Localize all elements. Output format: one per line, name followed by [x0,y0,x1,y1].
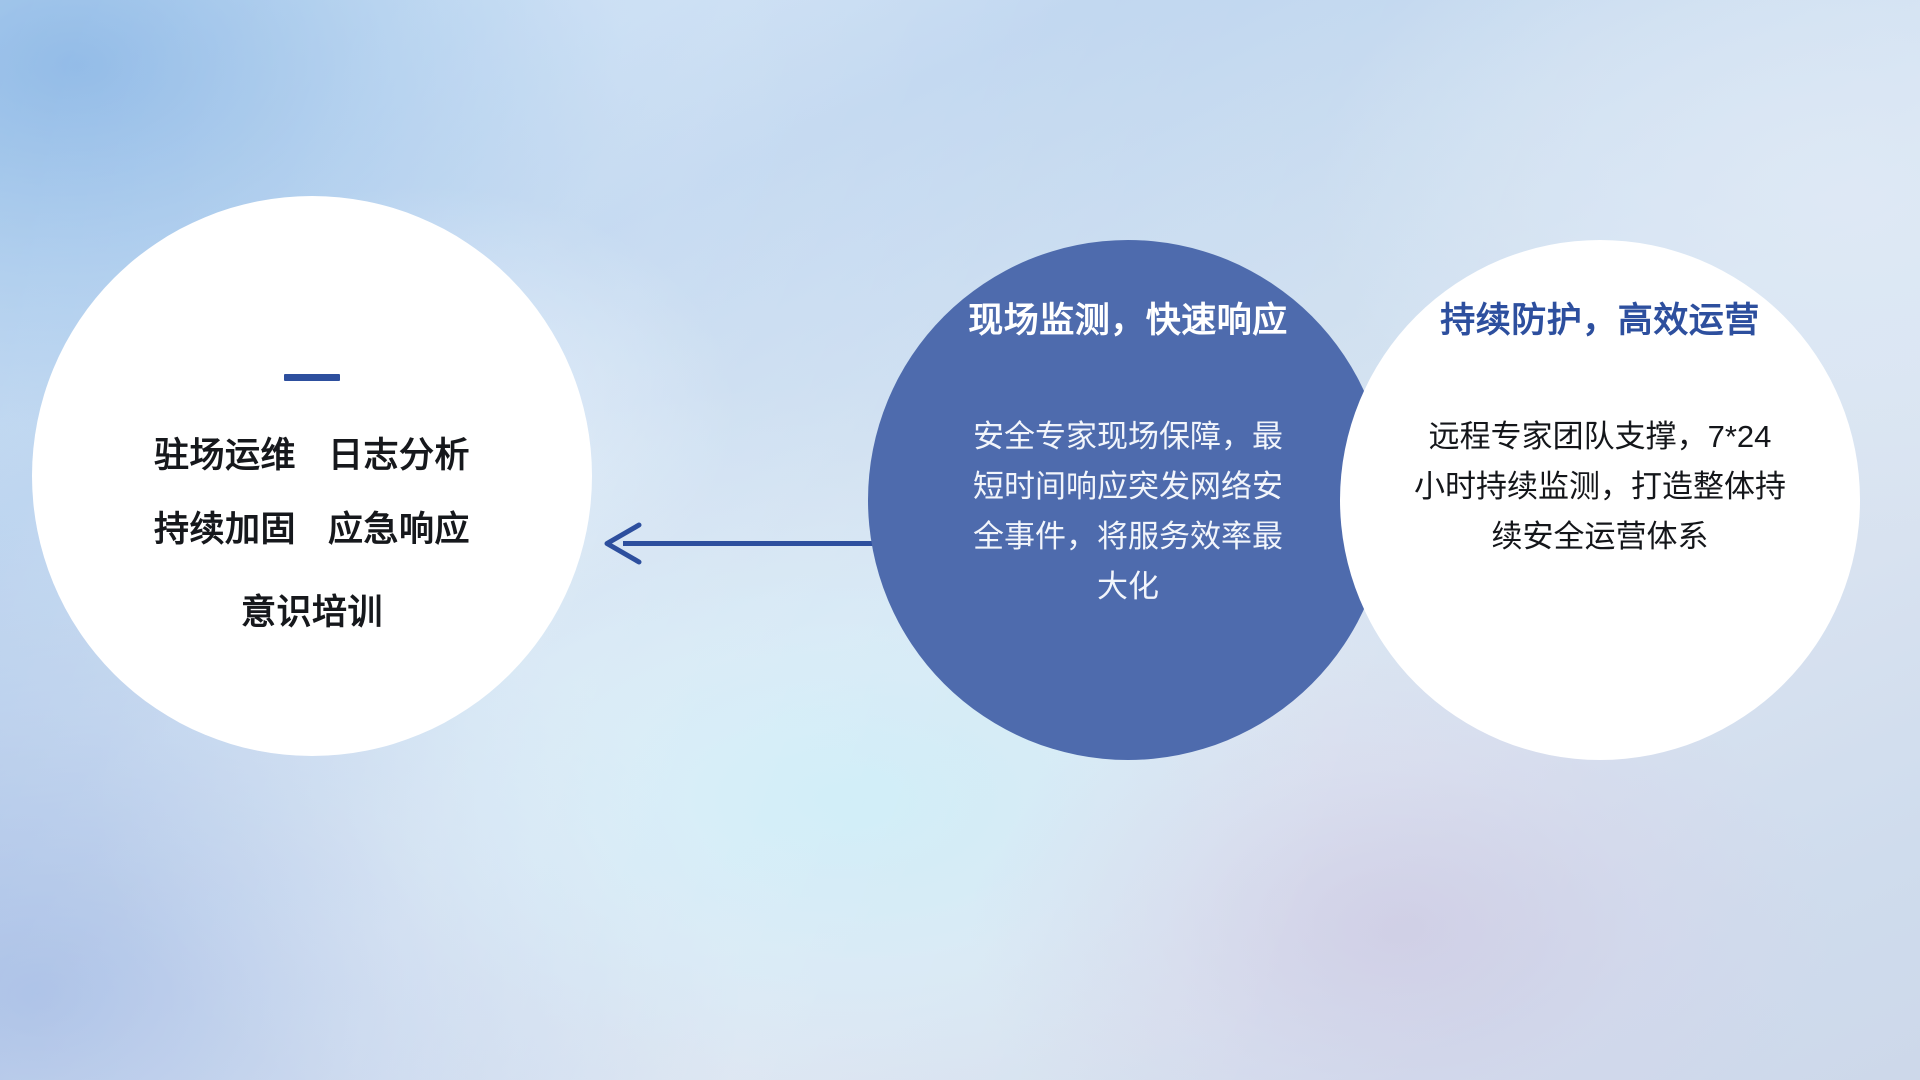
capability-tag: 应急响应 [328,501,470,552]
capability-tag: 驻场运维 [154,427,296,478]
capability-tag-row: 持续加固 应急响应 [154,501,470,552]
on-site-monitoring-circle: 现场监测，快速响应 安全专家现场保障，最短时间响应突发网络安全事件，将服务效率最… [868,240,1388,760]
continuous-protection-body: 远程专家团队支撑，7*24小时持续监测，打造整体持续安全运营体系 [1414,412,1786,562]
continuous-protection-title: 持续防护，高效运营 [1440,292,1760,343]
capability-tag-row: 意识培训 [241,584,383,635]
on-site-monitoring-body: 安全专家现场保障，最短时间响应突发网络安全事件，将服务效率最大化 [958,412,1298,612]
capability-tag-list: 驻场运维 日志分析 持续加固 应急响应 意识培训 [154,427,470,635]
slide-canvas: 驻场运维 日志分析 持续加固 应急响应 意识培训 现场监测，快速响应 安全专家现… [0,0,1920,1080]
continuous-protection-content: 持续防护，高效运营 远程专家团队支撑，7*24小时持续监测，打造整体持续安全运营… [1340,240,1860,562]
capability-tag: 日志分析 [328,427,470,478]
on-site-monitoring-content: 现场监测，快速响应 安全专家现场保障，最短时间响应突发网络安全事件，将服务效率最… [868,240,1388,612]
capability-tag: 持续加固 [154,501,296,552]
horizontal-dash-divider-icon [284,374,340,381]
continuous-protection-circle: 持续防护，高效运营 远程专家团队支撑，7*24小时持续监测，打造整体持续安全运营… [1340,240,1860,760]
resident-operations-content: 驻场运维 日志分析 持续加固 应急响应 意识培训 [32,196,592,635]
capability-tag-row: 驻场运维 日志分析 [154,427,470,478]
capability-tag: 意识培训 [241,584,383,635]
resident-operations-circle: 驻场运维 日志分析 持续加固 应急响应 意识培训 [32,196,592,756]
on-site-monitoring-title: 现场监测，快速响应 [968,292,1288,343]
